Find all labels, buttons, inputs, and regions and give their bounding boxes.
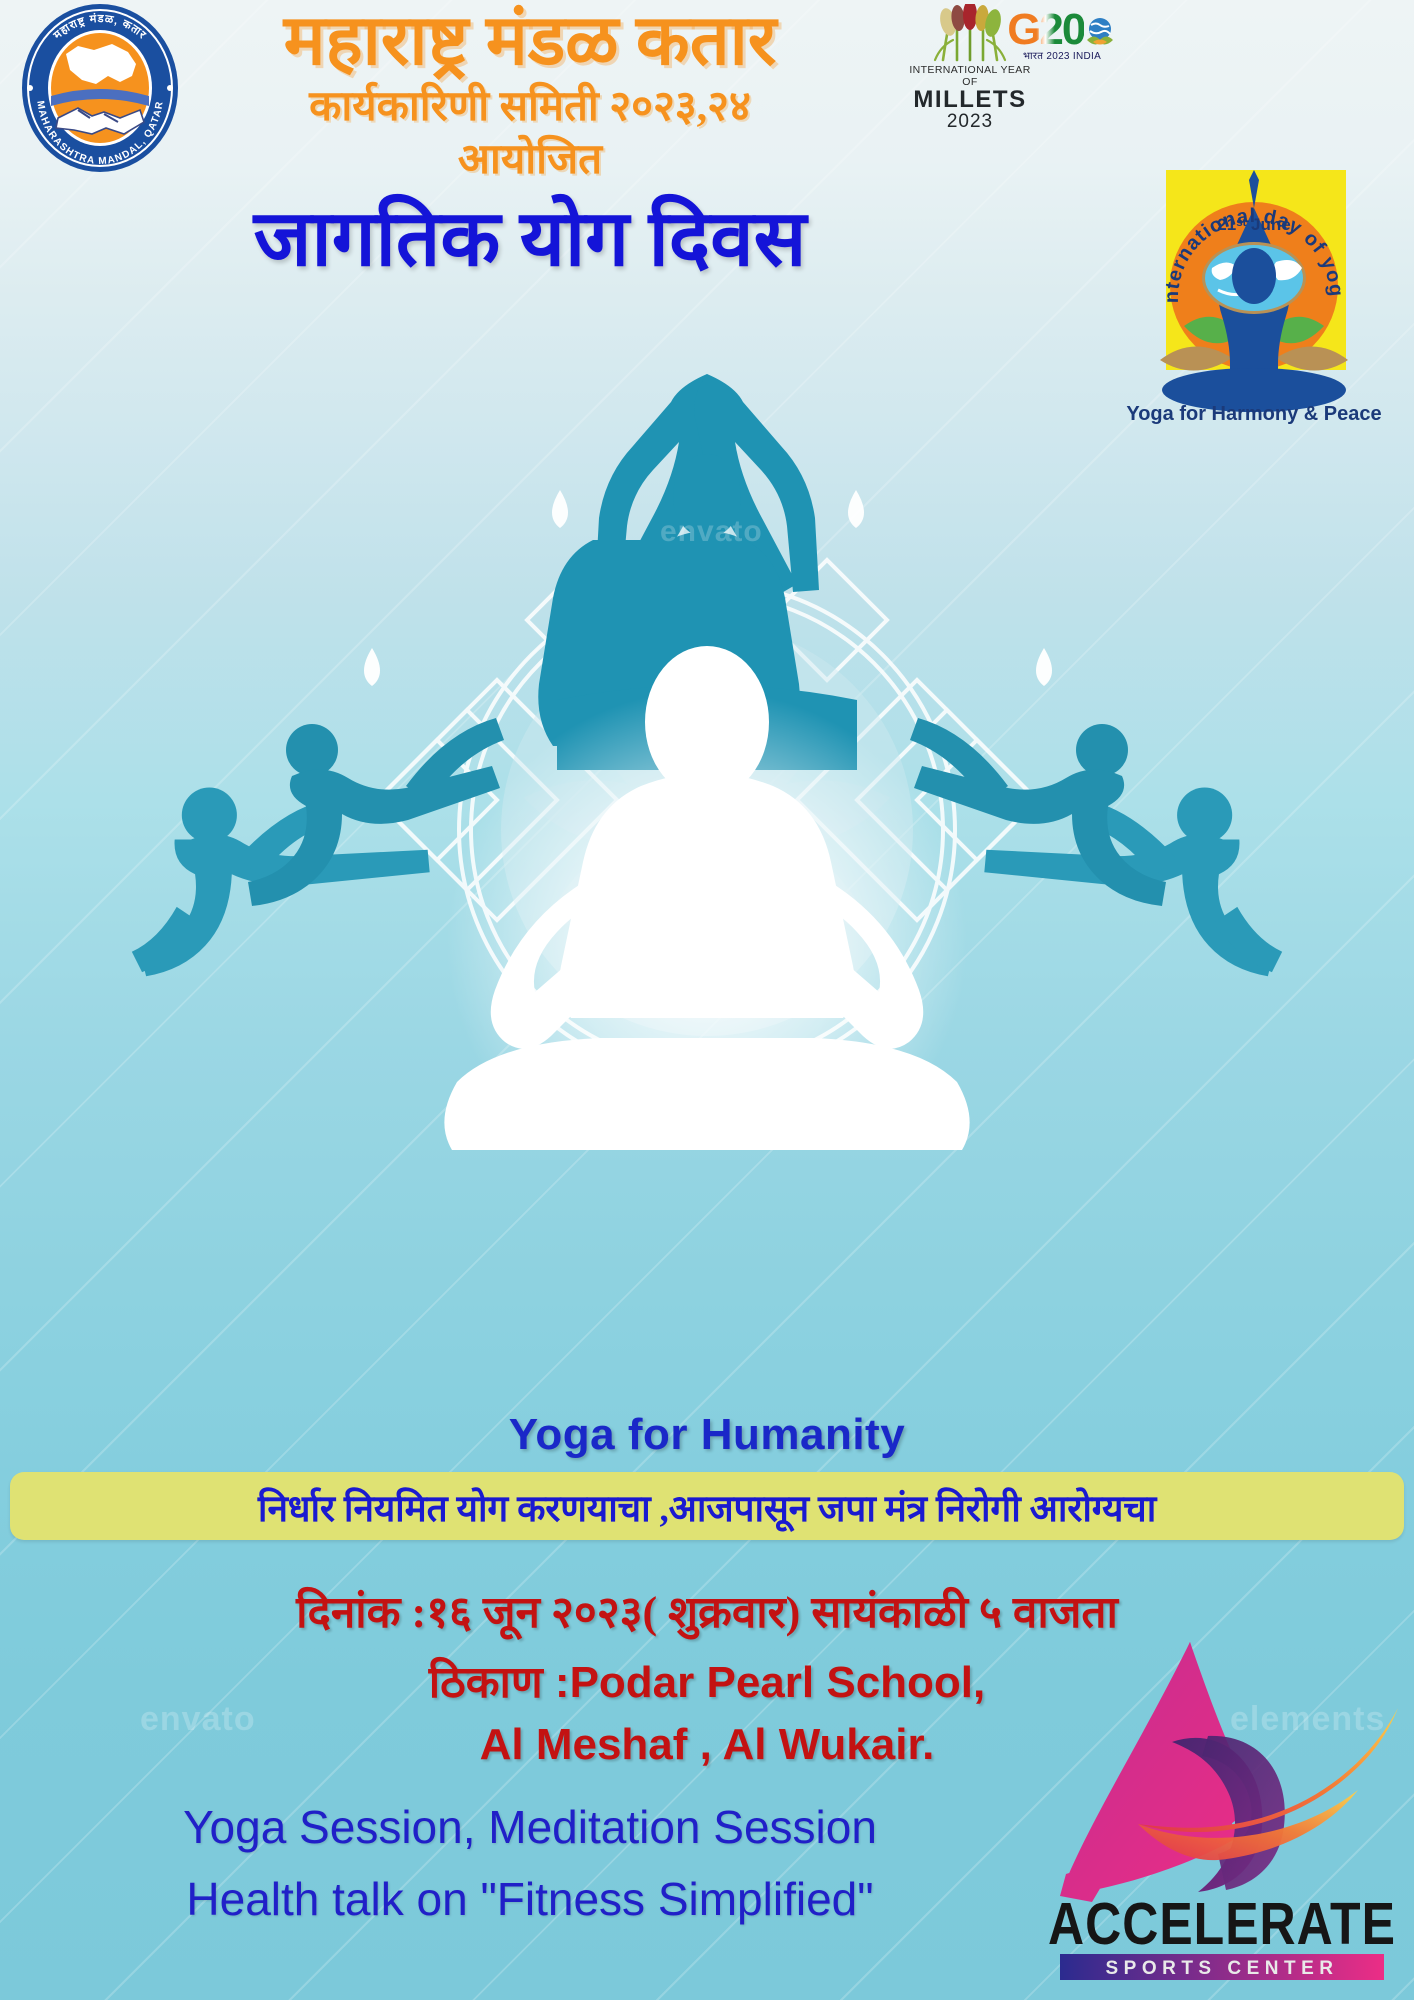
title-block: महाराष्ट्र मंडळ कतार कार्यकारिणी समिती २…: [170, 6, 890, 282]
page-title: महाराष्ट्र मंडळ कतार: [170, 6, 890, 77]
millets-line2: MILLETS: [905, 88, 1035, 112]
sponsor-subtitle: SPORTS CENTER: [1105, 1958, 1338, 1979]
yoga-illustration: [0, 330, 1414, 1150]
g20-mark: G20: [1007, 8, 1084, 52]
millets-line1: INTERNATIONAL YEAR OF: [905, 64, 1035, 88]
pledge-text: निर्धार नियमित योग करणयाचा ,आजपासून जपा …: [258, 1481, 1156, 1532]
poster-canvas: महाराष्ट्र मंडळ, कतार MAHARASHTRA MANDAL…: [0, 0, 1414, 2000]
g20-logo: G20 भारत 2023 INDIA: [1000, 8, 1124, 62]
pledge-banner: निर्धार नियमित योग करणयाचा ,आजपासून जपा …: [10, 1472, 1404, 1540]
millets-year: 2023: [905, 112, 1035, 133]
event-title: जागतिक योग दिवस: [170, 196, 890, 282]
theme-text: Yoga for Humanity: [0, 1410, 1414, 1460]
yoga-logo-date-text: 21ˢᵗ June: [1217, 215, 1290, 234]
maharashtra-mandal-logo: महाराष्ट्र मंडळ, कतार MAHARASHTRA MANDAL…: [8, 2, 192, 174]
activity-line-2: Health talk on "Fitness Simplified": [0, 1872, 1060, 1926]
committee-subtitle: कार्यकारिणी समिती २०२३,२४: [170, 83, 890, 131]
activity-line-1: Yoga Session, Meditation Session: [0, 1800, 1060, 1854]
g20-globe-lotus-icon: [1083, 16, 1117, 50]
sponsor-name: ACCELERATE: [1048, 1890, 1396, 1957]
accelerate-sports-center-logo: ACCELERATE SPORTS CENTER: [1022, 1630, 1414, 2000]
organized-label: आयोजित: [170, 136, 890, 184]
